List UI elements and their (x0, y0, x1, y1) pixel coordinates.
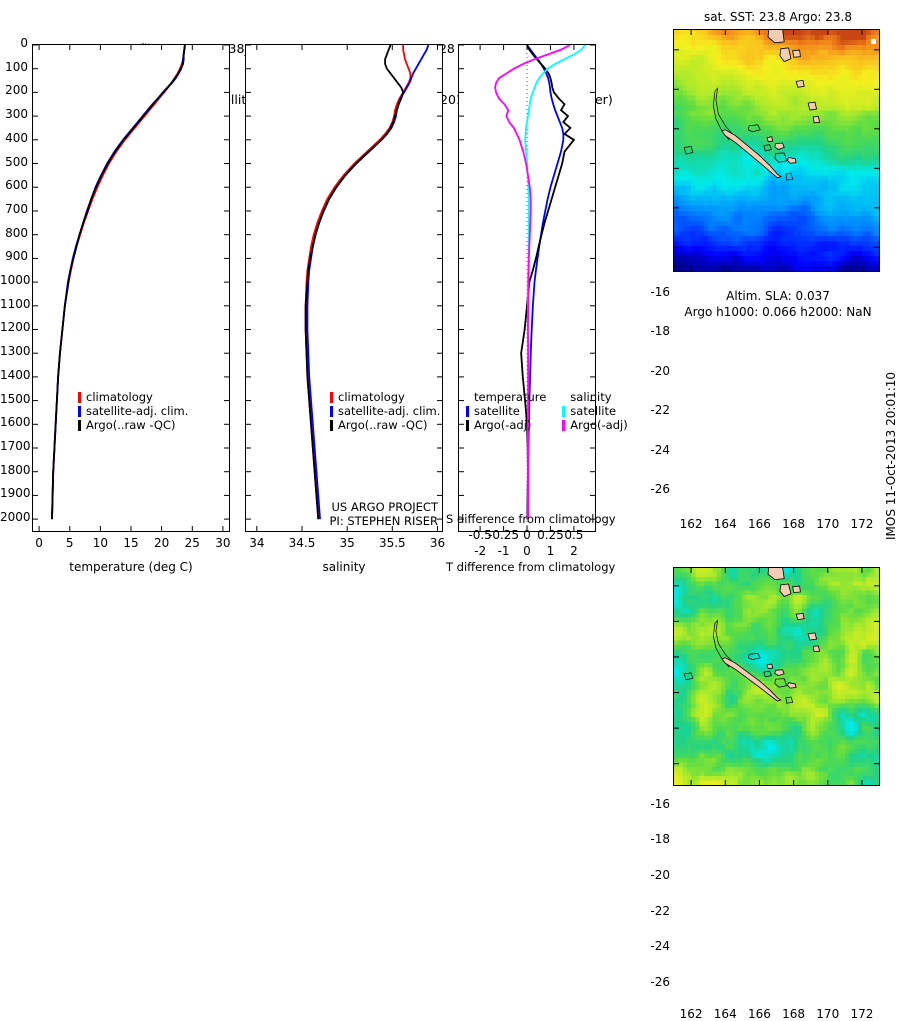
land-vanuatu-tanna (813, 646, 819, 652)
temperature-axis-label: temperature (deg C) (32, 560, 230, 574)
depth-tick-label: 2000 (0, 510, 28, 524)
salinity-legend-item: satellite-adj. clim. (330, 404, 440, 418)
credit-line-2: PI: STEPHEN RISER (283, 514, 438, 528)
temperature-profile-plot[interactable] (32, 44, 230, 532)
difference-legend-header: salinity (562, 390, 627, 404)
project-credit: US ARGO PROJECT PI: STEPHEN RISER (283, 500, 438, 528)
difference-legend-label: Argo(-adj) (474, 418, 531, 432)
map-latitude-tick-label: -20 (640, 868, 670, 882)
depth-tick-label: 900 (0, 249, 28, 263)
depth-tick-label: 1100 (0, 297, 28, 311)
depth-tick-label: 800 (0, 226, 28, 240)
land-loyalty-ouvea (767, 137, 773, 142)
depth-tick-label: 1300 (0, 344, 28, 358)
salinity-legend: climatologysatellite-adj. clim.Argo(..ra… (330, 390, 440, 432)
series-satellite-adj-clim- (52, 45, 185, 519)
land-vanuatu-efate (796, 613, 804, 619)
series-argo-raw-qc- (52, 45, 185, 519)
depth-tick-label: 200 (0, 83, 28, 97)
depth-tick-label: 100 (0, 60, 28, 74)
difference-legend-label: satellite (570, 404, 616, 418)
series-temperature-satellite (527, 45, 563, 519)
salinity-legend-label: Argo(..raw -QC) (338, 418, 428, 432)
depth-tick-label: 600 (0, 178, 28, 192)
difference-legend-item: satellite (562, 404, 627, 418)
legend-color-swatch-icon (330, 392, 333, 403)
difference-profile-canvas (459, 45, 595, 531)
land-vanuatu-ambrym (793, 50, 801, 57)
map-latitude-tick-label: -18 (640, 832, 670, 846)
imos-timestamp: IMOS 11-Oct-2013 20:01:10 (884, 372, 898, 540)
sst-map-canvas (674, 30, 879, 271)
sst-map-title: sat. SST: 23.8 Argo: 23.8 (668, 10, 888, 24)
depth-tick-label: 1600 (0, 415, 28, 429)
map-latitude-tick-label: -22 (640, 403, 670, 417)
map-longitude-tick-label: 172 (837, 517, 887, 531)
series-salinity-argo-adj- (495, 45, 570, 519)
legend-color-swatch-icon (330, 406, 333, 417)
difference-profile-plot[interactable] (458, 44, 596, 532)
temperature-legend-label: Argo(..raw -QC) (86, 418, 176, 432)
map-latitude-tick-label: -20 (640, 364, 670, 378)
sst-map[interactable] (673, 29, 880, 272)
legend-color-swatch-icon (466, 420, 469, 431)
difference-legend-column: temperaturesatelliteArgo(-adj) (466, 390, 546, 432)
difference-legend-item: Argo(-adj) (562, 418, 627, 432)
temperature-legend: climatologysatellite-adj. clim.Argo(..ra… (78, 390, 188, 432)
legend-color-swatch-icon (466, 406, 469, 417)
sla-map[interactable] (673, 567, 880, 786)
series-argo-raw-qc- (306, 45, 404, 519)
temperature-difference-tick-label: 2 (544, 544, 604, 558)
sla-map-canvas (674, 568, 879, 785)
legend-color-swatch-icon (562, 420, 565, 431)
map-latitude-tick-label: -16 (640, 285, 670, 299)
depth-tick-label: 700 (0, 202, 28, 216)
sla-map-title-line-1: Altim. SLA: 0.037 (668, 289, 888, 303)
temperature-legend-label: climatology (86, 390, 153, 404)
temperature-legend-item: climatology (78, 390, 188, 404)
credit-line-1: US ARGO PROJECT (283, 500, 438, 514)
salinity-legend-item: climatology (330, 390, 440, 404)
temperature-legend-item: Argo(..raw -QC) (78, 418, 188, 432)
land-vanuatu-efate (796, 80, 804, 87)
difference-legend-label: satellite (474, 404, 520, 418)
salinity-legend-item: Argo(..raw -QC) (330, 418, 440, 432)
depth-tick-label: 1400 (0, 368, 28, 382)
legend-color-swatch-icon (562, 406, 565, 417)
legend-color-swatch-icon (78, 392, 81, 403)
missing-data-cell (871, 39, 876, 44)
difference-legend: temperaturesatelliteArgo(-adj)salinitysa… (466, 390, 628, 432)
depth-tick-label: 1700 (0, 439, 28, 453)
land-vanuatu-ambrym (793, 586, 801, 592)
salinity-legend-label: climatology (338, 390, 405, 404)
depth-tick-label: 1800 (0, 463, 28, 477)
land-vanuatu-erromango (808, 102, 817, 110)
salinity-difference-tick-label: 0.5 (544, 528, 604, 542)
land-loyalty-mare (788, 683, 797, 688)
difference-legend-column: salinitysatelliteArgo(-adj) (562, 390, 627, 432)
difference-legend-item: Argo(-adj) (466, 418, 546, 432)
legend-color-swatch-icon (78, 420, 81, 431)
series-satellite-adj-clim- (307, 45, 428, 519)
legend-color-swatch-icon (78, 406, 81, 417)
depth-tick-label: 1900 (0, 486, 28, 500)
legend-color-swatch-icon (330, 420, 333, 431)
depth-tick-label: 1500 (0, 392, 28, 406)
map-latitude-tick-label: -24 (640, 443, 670, 457)
land-vanuatu-tanna (813, 117, 819, 123)
depth-tick-label: 0 (0, 36, 28, 50)
depth-tick-label: 1200 (0, 320, 28, 334)
depth-tick-label: 500 (0, 155, 28, 169)
salinity-legend-label: satellite-adj. clim. (338, 404, 440, 418)
difference-legend-label: Argo(-adj) (570, 418, 627, 432)
difference-legend-header: temperature (466, 390, 546, 404)
map-latitude-tick-label: -18 (640, 324, 670, 338)
map-longitude-tick-label: 172 (837, 1007, 887, 1021)
sla-map-title-line-2: Argo h1000: 0.066 h2000: NaN (658, 305, 898, 319)
temperature-legend-label: satellite-adj. clim. (86, 404, 188, 418)
depth-tick-label: 300 (0, 107, 28, 121)
salinity-difference-axis-label: S difference from climatology (446, 512, 608, 526)
land-vanuatu-erromango (808, 633, 817, 640)
map-latitude-tick-label: -24 (640, 939, 670, 953)
heatmap-cells (674, 30, 879, 271)
map-latitude-tick-label: -26 (640, 482, 670, 496)
temperature-difference-axis-label: T difference from climatology (446, 560, 608, 574)
salinity-axis-label: salinity (245, 560, 443, 574)
land-loyalty-ouvea (767, 664, 773, 669)
heatmap-cells (674, 568, 879, 785)
salinity-profile-plot[interactable] (245, 44, 443, 532)
map-latitude-tick-label: -26 (640, 975, 670, 989)
depth-tick-label: 400 (0, 131, 28, 145)
series-climatology (52, 45, 185, 519)
temperature-profile-canvas (33, 45, 229, 531)
temperature-legend-item: satellite-adj. clim. (78, 404, 188, 418)
map-latitude-tick-label: -22 (640, 904, 670, 918)
difference-legend-item: satellite (466, 404, 546, 418)
map-latitude-tick-label: -16 (640, 797, 670, 811)
depth-tick-label: 1000 (0, 273, 28, 287)
salinity-profile-canvas (246, 45, 442, 531)
